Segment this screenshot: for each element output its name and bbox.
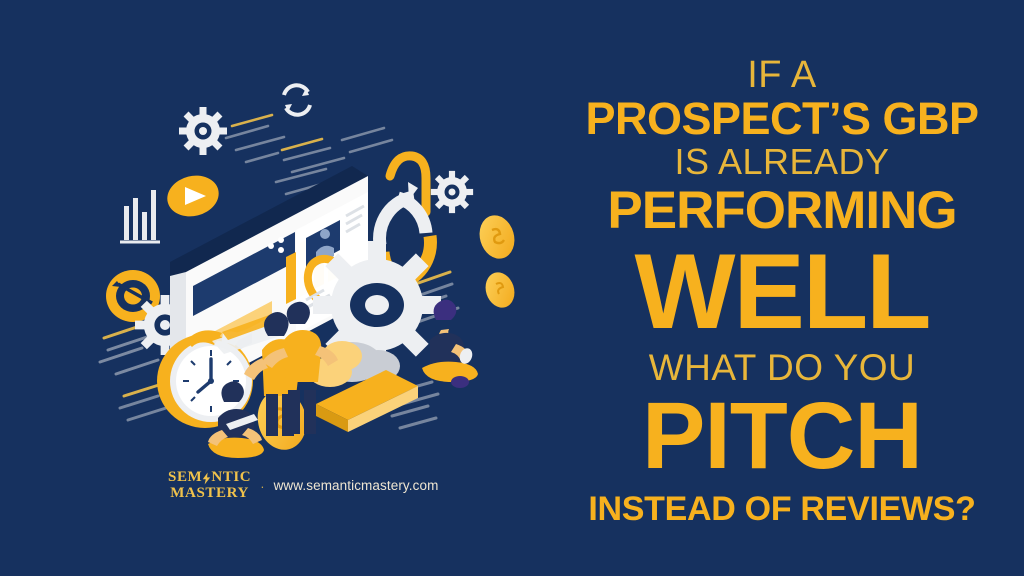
headline-block: IF A PROSPECT’S GBP IS ALREADY PERFORMIN… xyxy=(540,0,1024,520)
headline-line-8: INSTEAD OF REVIEWS? xyxy=(588,492,975,526)
semantic-mastery-logo[interactable]: SEM NTIC MASTERY xyxy=(168,470,251,502)
headline-line-5: WELL xyxy=(634,238,929,345)
logo-text-ntic: NTIC xyxy=(211,470,251,486)
logo-text-sem: SEM xyxy=(168,470,202,486)
play-button-icon xyxy=(163,170,223,221)
gear-icon-right xyxy=(431,171,473,213)
coin-icon-right xyxy=(481,269,519,312)
refresh-cycle-icon-small xyxy=(284,85,310,115)
headline-line-3: IS ALREADY xyxy=(674,144,889,180)
bar-chart-icon xyxy=(120,190,160,242)
logo-line-1: SEM NTIC xyxy=(168,470,251,486)
brand-separator: · xyxy=(260,479,264,494)
headline-line-2: PROSPECT’S GBP xyxy=(585,96,978,141)
headline-line-4: PERFORMING xyxy=(607,184,956,237)
logo-line-2: MASTERY xyxy=(170,486,249,502)
gear-icon-top xyxy=(179,107,227,155)
brand-url[interactable]: www.semanticmastery.com xyxy=(274,478,439,493)
brand-footer: SEM NTIC MASTERY · www.semanticmastery.c… xyxy=(168,470,438,502)
poster-canvas: IF A PROSPECT’S GBP IS ALREADY PERFORMIN… xyxy=(0,0,1024,576)
lightning-bolt-a-icon xyxy=(202,472,211,485)
headline-line-7: PITCH xyxy=(642,389,922,484)
coin-icon-right-top xyxy=(475,211,520,263)
headline-line-1: IF A xyxy=(747,56,817,94)
headline-line-6: WHAT DO YOU xyxy=(649,349,916,386)
